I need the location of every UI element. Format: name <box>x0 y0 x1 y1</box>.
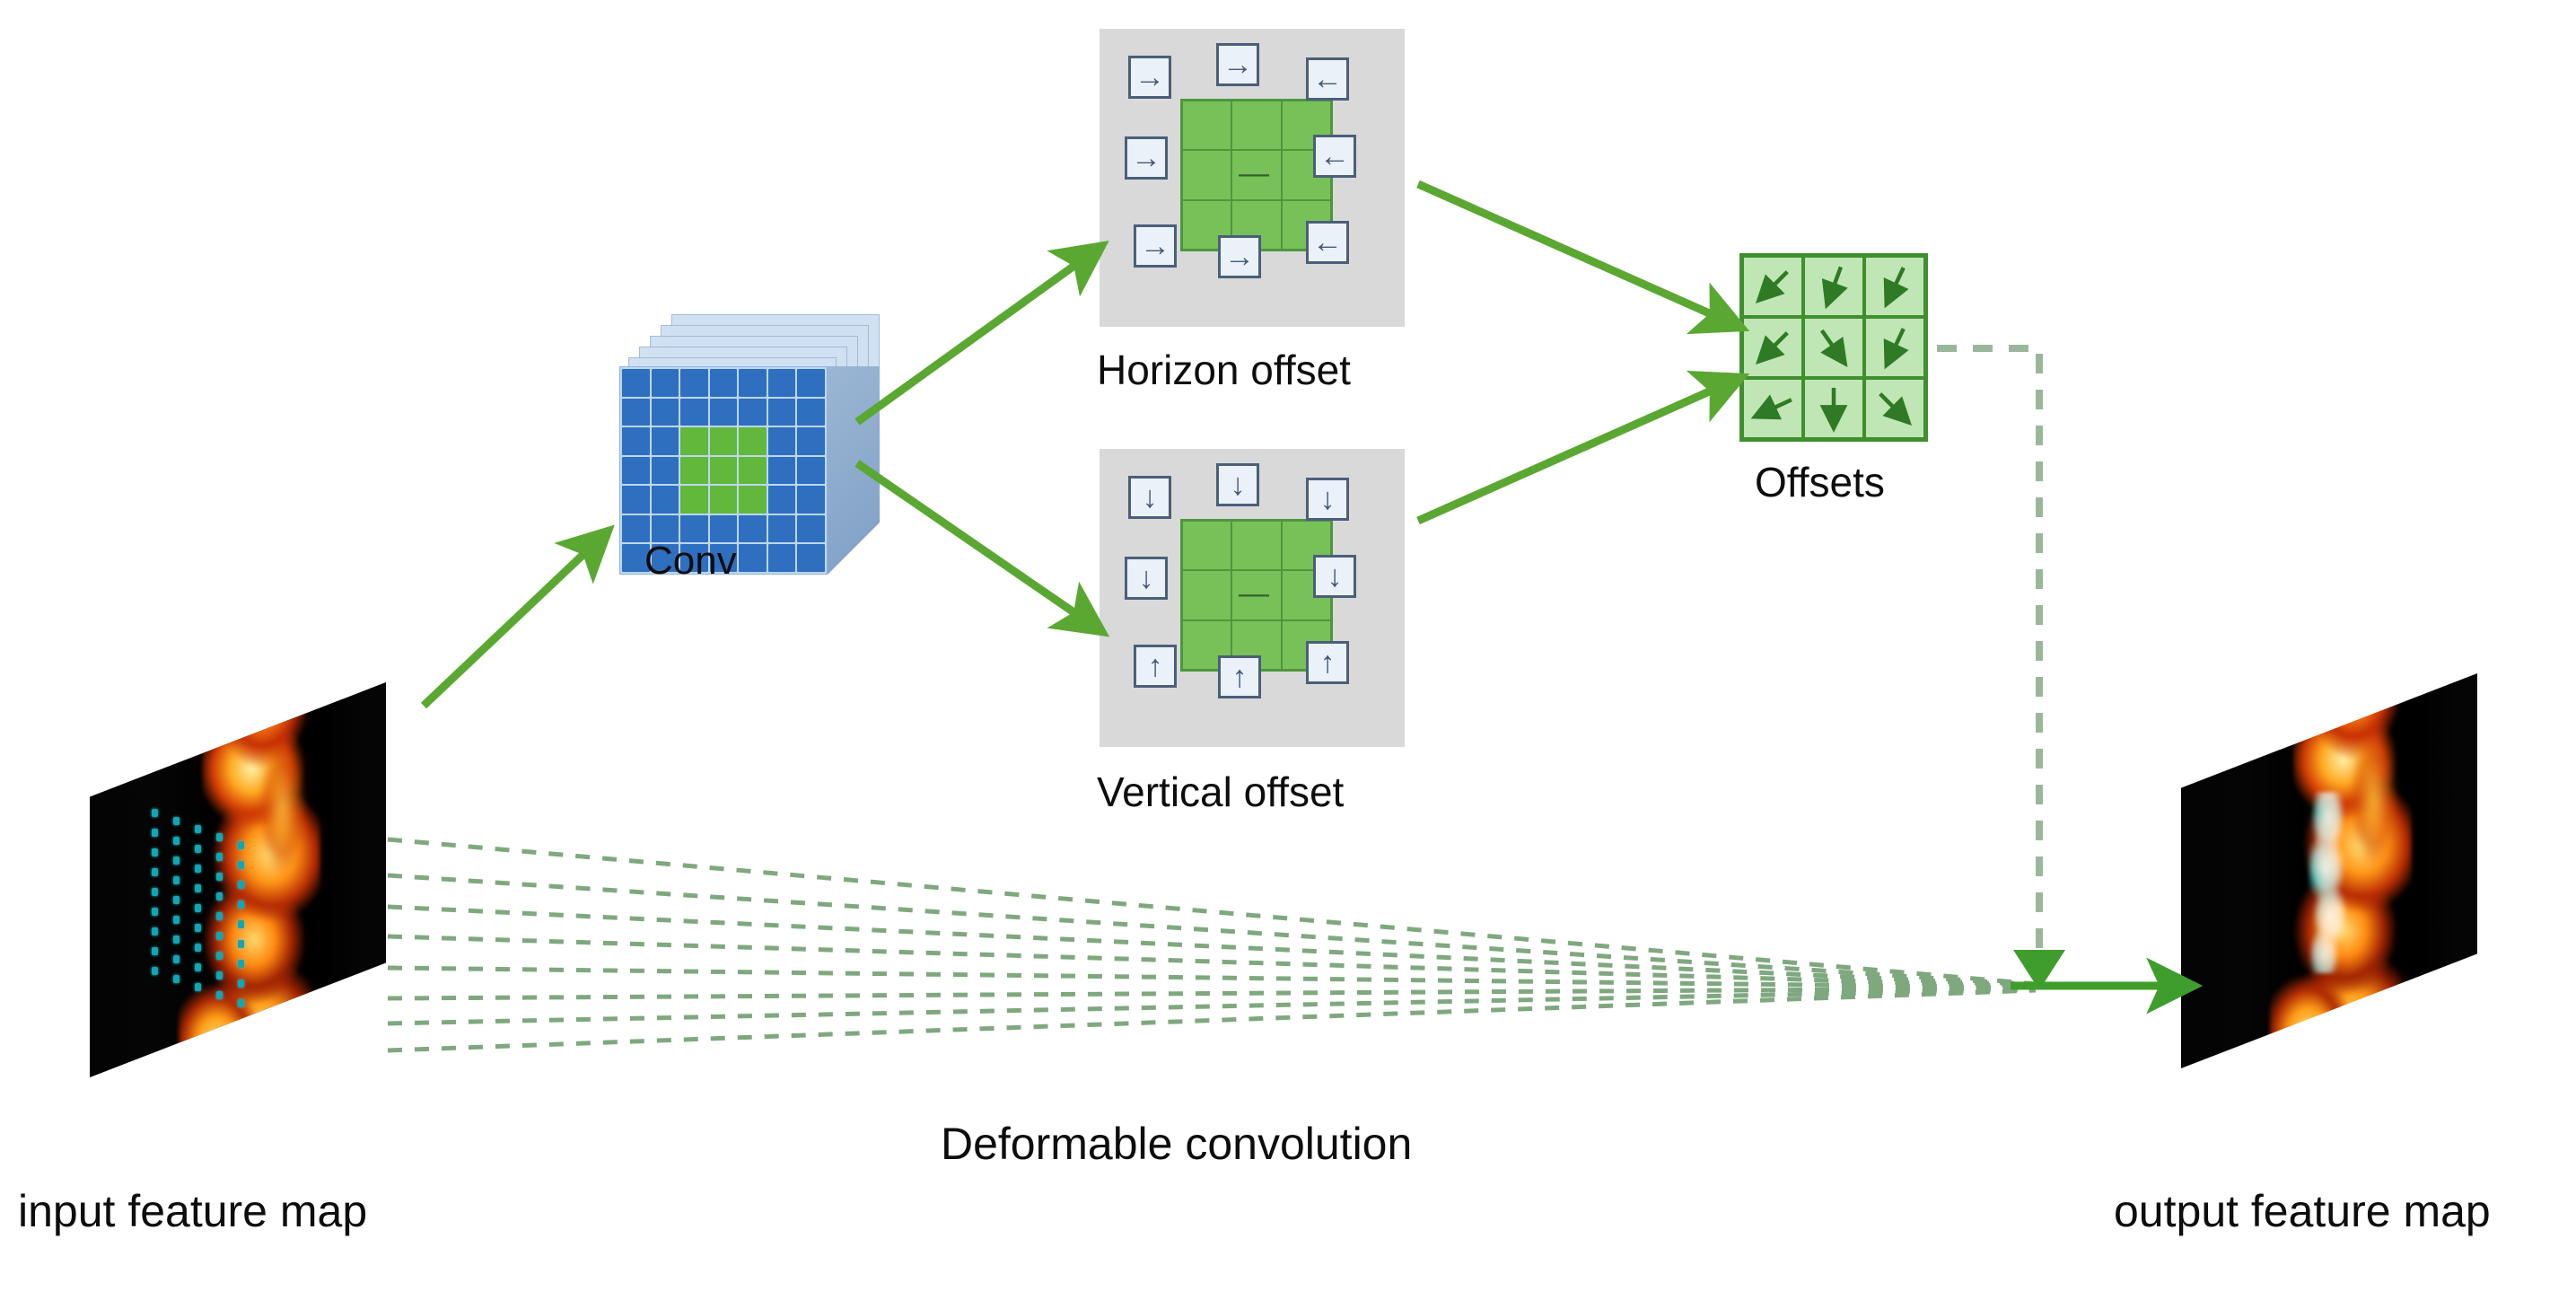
input-feature-map-label: input feature map <box>18 1185 367 1237</box>
conv-cell <box>768 544 796 572</box>
sampling-dot <box>195 865 201 873</box>
offset-arrow-box: → <box>1125 136 1168 180</box>
diagram-canvas: Conv →→←→←→→←— Horizon offset ↓↓↓↓↓↑↑↑— … <box>0 0 2576 1300</box>
conv-cell <box>739 457 767 485</box>
sampling-dot <box>216 892 223 900</box>
sampling-dot <box>216 991 223 999</box>
conv-cell <box>768 486 796 514</box>
sampling-dot <box>173 876 180 884</box>
sampling-dot <box>216 971 223 979</box>
conv-cell <box>680 369 708 397</box>
conv-cell <box>739 486 767 514</box>
conv-cell <box>739 369 767 397</box>
conv-cell <box>652 369 679 397</box>
sampling-dot <box>195 825 201 833</box>
sampling-dot <box>216 873 223 881</box>
offset-arrow-box: ← <box>1313 135 1356 178</box>
offset-vector-arrow <box>1793 307 1873 387</box>
edge-horizon-to-offsets <box>1418 184 1722 319</box>
offset-arrow-box: → <box>1218 235 1261 278</box>
sampling-dot <box>238 920 244 928</box>
conv-cell <box>739 544 767 572</box>
conv-cell <box>739 427 767 455</box>
sampling-dot <box>152 967 158 975</box>
conv-cell <box>768 515 796 543</box>
conv-cell <box>622 457 650 485</box>
offsets-cell <box>1803 256 1864 317</box>
offsets-cell <box>1864 256 1925 317</box>
edge-conv-to-vertical <box>857 463 1084 619</box>
sampling-dot <box>152 927 158 935</box>
edge-conv-to-horizon <box>857 259 1084 422</box>
edge-vertical-to-offsets <box>1418 386 1722 521</box>
sampling-dot <box>238 979 244 988</box>
conv-cell <box>622 427 650 455</box>
conv-cell <box>622 369 650 397</box>
conv-cell <box>768 457 796 485</box>
sampling-dot <box>216 833 223 841</box>
conv-cell <box>710 399 738 426</box>
sampling-dot <box>238 999 244 1007</box>
sampling-dot <box>173 837 180 845</box>
deform-arrowhead-down <box>2013 950 2065 990</box>
conv-cell <box>680 427 708 455</box>
conv-cell <box>680 457 708 485</box>
sampling-dot <box>152 908 158 916</box>
sampling-dot <box>173 935 180 944</box>
sampling-dot <box>195 963 201 971</box>
sampling-dot <box>173 856 180 865</box>
offset-vector-arrow <box>1856 248 1932 324</box>
offset-arrow-box: ↓ <box>1125 557 1168 600</box>
sampling-dot <box>216 912 223 920</box>
sampling-dot <box>238 841 244 849</box>
sampling-dot <box>152 848 158 856</box>
conv-cell <box>680 399 708 426</box>
output-feature-map <box>2181 673 2477 1068</box>
sampling-dot <box>195 944 201 952</box>
conv-cell <box>797 369 825 397</box>
conv-cell <box>652 486 679 514</box>
conv-cell <box>797 486 825 514</box>
offset-arrow-box: → <box>1128 56 1171 99</box>
offsets-cell <box>1742 378 1803 439</box>
sampling-dot <box>195 924 201 932</box>
conv-cell <box>710 369 738 397</box>
conv-cell <box>622 486 650 514</box>
sampling-dot <box>216 932 223 940</box>
offset-arrow-box: ↓ <box>1306 478 1349 521</box>
offset-arrow-box: ↓ <box>1128 476 1171 519</box>
offsets-grid <box>1739 253 1928 442</box>
sampling-dot <box>173 896 180 904</box>
sampling-dot <box>195 904 201 912</box>
sampling-dot <box>238 881 244 889</box>
conv-cell <box>768 369 796 397</box>
sampling-dot <box>152 868 158 876</box>
conv-cell <box>797 457 825 485</box>
sampling-dot <box>152 829 158 837</box>
offset-arrow-box: ↓ <box>1216 463 1259 506</box>
offset-vector-arrow <box>1854 368 1936 450</box>
conv-cell <box>680 486 708 514</box>
sampling-dot <box>195 983 201 991</box>
conv-cell <box>622 399 650 426</box>
offset-arrow-box: ← <box>1306 221 1349 264</box>
conv-cell <box>797 399 825 426</box>
conv-cell <box>768 427 796 455</box>
deformable-convolution-caption: Deformable convolution <box>941 1118 1412 1170</box>
offsets-cell <box>1742 317 1803 378</box>
conv-cell <box>652 427 679 455</box>
edge-input-to-conv <box>424 546 592 706</box>
output-highlight-region <box>2309 792 2347 973</box>
output-feature-map-label: output feature map <box>2114 1185 2491 1237</box>
sampling-dot <box>152 809 158 817</box>
sampling-dot <box>173 916 180 924</box>
conv-cell <box>797 515 825 543</box>
sampling-dot <box>238 900 244 909</box>
offset-arrow-box: → <box>1216 43 1259 86</box>
offsets-cell <box>1864 378 1925 439</box>
conv-cell <box>652 457 679 485</box>
input-fire-image <box>90 682 386 1077</box>
offset-arrow-box: ↑ <box>1306 641 1349 684</box>
offset-center-marker: — <box>1232 575 1275 612</box>
output-fire-image <box>2181 673 2477 1068</box>
offset-arrow-box: ↓ <box>1313 555 1356 598</box>
conv-cell <box>739 515 767 543</box>
offsets-cell <box>1803 317 1864 378</box>
sampling-dot <box>195 884 201 892</box>
conv-cell <box>710 486 738 514</box>
offsets-label: Offsets <box>1755 458 1885 506</box>
sampling-dot <box>152 947 158 955</box>
offset-arrow-box: ↑ <box>1218 655 1261 698</box>
sampling-dot <box>238 940 244 948</box>
conv-cell <box>797 544 825 572</box>
sampling-dot <box>216 952 223 960</box>
sampling-dot <box>152 888 158 896</box>
vertical-offset-label: Vertical offset <box>1097 768 1344 816</box>
offset-vector-arrow <box>1734 370 1810 446</box>
sampling-bundle <box>388 839 2036 1050</box>
sampling-dot <box>173 955 180 963</box>
conv-cell <box>710 427 738 455</box>
sampling-dot <box>238 861 244 869</box>
input-feature-map <box>90 682 386 1077</box>
offset-arrow-box: ↑ <box>1134 645 1177 688</box>
sampling-dot <box>173 975 180 983</box>
edge-offsets-to-deform <box>1937 348 2039 959</box>
horizon-offset-label: Horizon offset <box>1097 346 1351 394</box>
conv-cell <box>797 427 825 455</box>
conv-label: Conv <box>644 539 737 584</box>
sampling-dot-grid <box>152 809 217 990</box>
sampling-dot <box>216 853 223 861</box>
offset-center-marker: — <box>1232 154 1275 192</box>
conv-cell <box>768 399 796 426</box>
conv-cell <box>710 457 738 485</box>
offset-arrow-box: ← <box>1306 57 1349 101</box>
sampling-dot <box>195 845 201 853</box>
conv-cell <box>652 399 679 426</box>
sampling-dot <box>173 817 180 825</box>
offset-arrow-box: → <box>1134 224 1177 268</box>
sampling-dot <box>238 960 244 968</box>
conv-cell <box>739 399 767 426</box>
